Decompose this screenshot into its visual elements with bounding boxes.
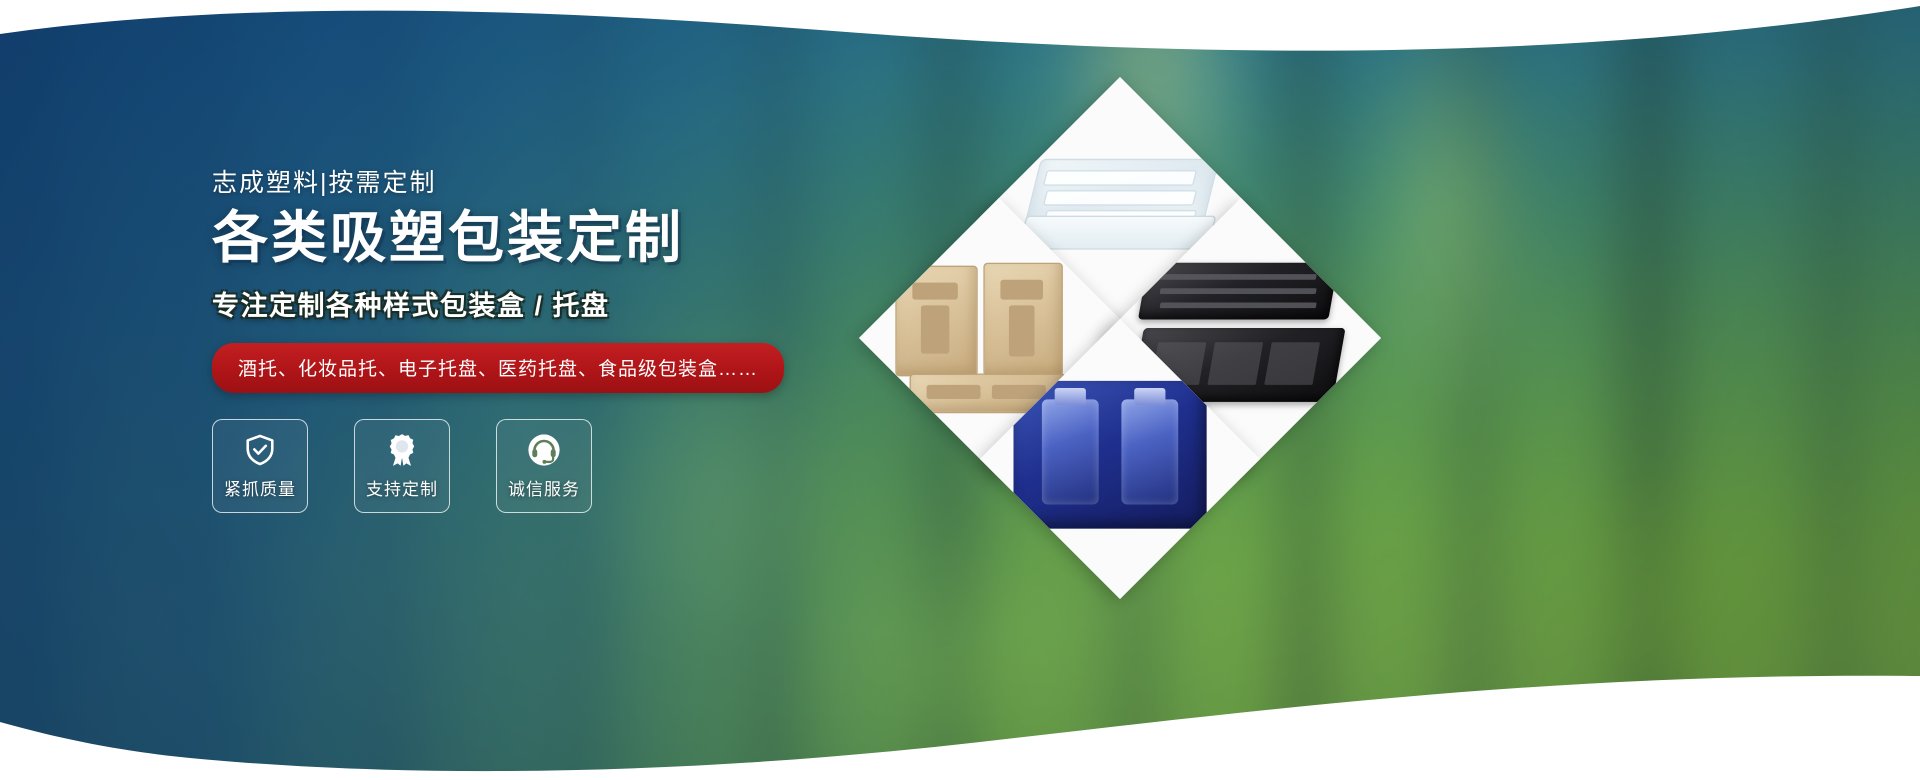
feature-badge-customization[interactable]: 支持定制 [354,419,450,513]
feature-badge-label: 支持定制 [366,475,438,500]
feature-badge-service[interactable]: 诚信服务 [496,419,592,513]
hero-subheadline: 专注定制各种样式包装盒 / 托盘 [212,284,972,323]
hero-headline: 各类吸塑包装定制 [212,207,972,270]
brand-eyebrow: 志成塑料|按需定制 [212,168,972,198]
hero-banner: 志成塑料|按需定制 各类吸塑包装定制 专注定制各种样式包装盒 / 托盘 酒托、化… [0,0,1920,780]
award-ribbon-icon [384,432,420,468]
headset-service-icon [526,432,562,468]
feature-badge-label: 诚信服务 [508,475,580,500]
product-diamond-collage [900,118,1340,558]
feature-badge-quality[interactable]: 紧抓质量 [212,419,308,513]
feature-badge-label: 紧抓质量 [224,475,296,500]
product-tagline-pill: 酒托、化妆品托、电子托盘、医药托盘、食品级包装盒…… [212,343,784,393]
hero-copy-block: 志成塑料|按需定制 各类吸塑包装定制 专注定制各种样式包装盒 / 托盘 酒托、化… [212,168,972,513]
feature-badge-list: 紧抓质量 支持定制 [212,419,972,513]
shield-check-icon [242,432,278,468]
blue-cosmetic-tray-image [1014,381,1227,537]
